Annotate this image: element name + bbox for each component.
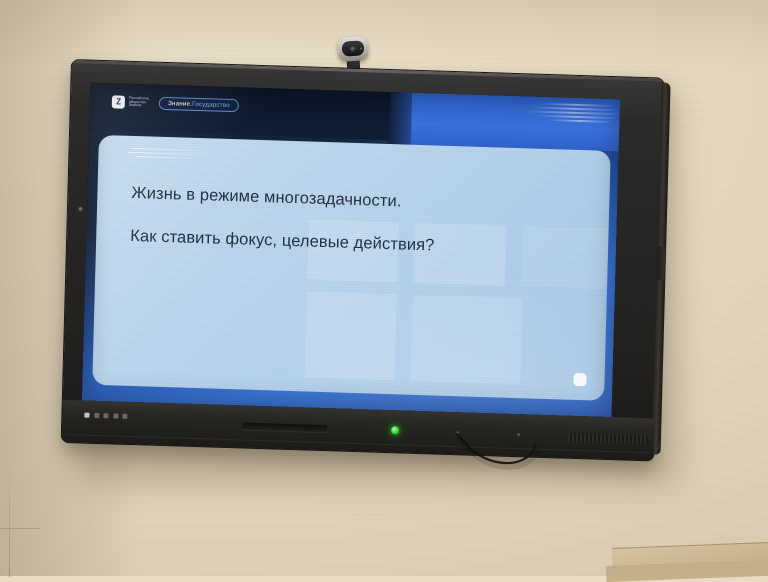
organization-logo: Z Российское общество Знание [112, 95, 150, 109]
bezel-button-volume-down[interactable] [113, 413, 118, 418]
logo-glyph: Z [116, 97, 121, 106]
card-decorative-streaks [126, 148, 208, 169]
wall-panel-seam-lower [0, 528, 40, 529]
wall-panel-seam [9, 455, 10, 577]
card-corner-chip [573, 373, 586, 386]
ambient-light-sensor [517, 433, 520, 436]
display-screen[interactable]: Z Российское общество Знание Знание.Госу… [82, 83, 620, 418]
room-scene: Z Российское общество Знание Знание.Госу… [0, 0, 768, 576]
webcam-lens-plate [342, 40, 365, 56]
webcam-lens [350, 45, 357, 52]
display-side-speaker [656, 246, 665, 280]
slide-content-card: Жизнь в режиме многозадачности. Как став… [92, 135, 611, 401]
program-badge: Знание.Государство [159, 97, 239, 112]
bezel-button-power[interactable] [84, 413, 89, 418]
slide-text-block: Жизнь в режиме многозадачности. Как став… [130, 182, 462, 259]
bezel-button-volume-up[interactable] [122, 414, 127, 419]
interactive-display[interactable]: Z Российское общество Знание Знание.Госу… [62, 60, 664, 460]
card-grid-pattern [92, 135, 611, 401]
slide-canvas: Z Российское общество Знание Знание.Госу… [82, 83, 620, 418]
org-line-3: Знание [129, 104, 149, 109]
slide-header-bar [89, 83, 412, 141]
ir-receiver [456, 431, 459, 434]
organization-name: Российское общество Знание [129, 96, 150, 108]
bezel-button-source[interactable] [103, 413, 108, 418]
decorative-streaks-top [521, 102, 620, 131]
badge-primary-text: Знание. [168, 100, 192, 108]
bezel-button-menu[interactable] [94, 413, 99, 418]
znanie-logo-icon: Z [112, 95, 125, 108]
bezel-sensor-led [79, 207, 82, 210]
webcam-indicator-dot [359, 47, 362, 50]
webcam-icon [337, 36, 368, 62]
badge-secondary-text: Государство [192, 101, 230, 109]
